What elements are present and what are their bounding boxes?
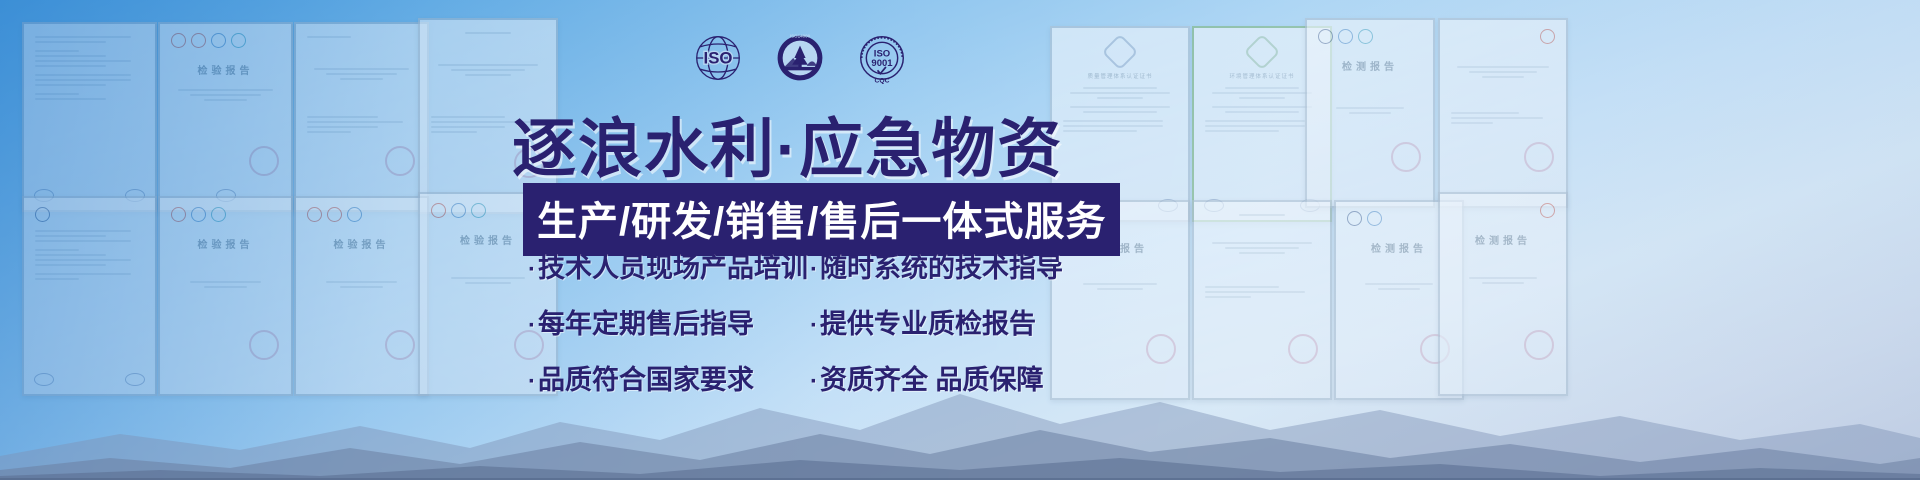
certificate-thumb	[22, 22, 157, 212]
certificate-thumb: 检测报告	[1305, 18, 1435, 208]
certificate-title: 检测报告	[1318, 58, 1422, 73]
iso-9001-cqc-badge: ISO 9001 CQC	[854, 30, 910, 86]
certificate-title: 检验报告	[307, 236, 416, 251]
feature-bullet-text: 资质齐全 品质保障	[820, 365, 1044, 395]
feature-bullet-text: 随时系统的技术指导	[820, 253, 1063, 283]
feature-bullet: ·每年定期售后指导	[528, 302, 800, 341]
certificate-thumb: 检验报告	[158, 22, 293, 212]
bullet-marker-icon: ·	[528, 312, 536, 339]
feature-bullet: ·资质齐全 品质保障	[810, 358, 1063, 397]
feature-bullet-text: 每年定期售后指导	[538, 309, 754, 339]
certificate-title: 环境管理体系认证证书	[1205, 72, 1319, 80]
feature-bullet-text: 技术人员现场产品培训	[538, 253, 808, 283]
certificate-thumb	[1438, 18, 1568, 208]
certificate-title: 质量管理体系认证证书	[1063, 72, 1177, 80]
certificate-title: 检验报告	[171, 236, 280, 251]
svg-text:9001: 9001	[871, 58, 893, 69]
feature-bullet: ·提供专业质检报告	[810, 302, 1063, 341]
certificate-title: 检测报告	[1451, 232, 1555, 247]
svg-text:ISO14000: ISO14000	[790, 33, 811, 38]
certificate-title: 检测报告	[1347, 240, 1451, 255]
feature-bullet: ·品质符合国家要求	[528, 358, 800, 397]
svg-text:ISO: ISO	[704, 49, 733, 68]
bullet-marker-icon: ·	[810, 312, 818, 339]
bullet-marker-icon: ·	[528, 256, 536, 283]
bullet-marker-icon: ·	[810, 368, 818, 395]
svg-text:CQC: CQC	[875, 78, 890, 85]
iso-14000-environment-badge: ISO14000	[772, 30, 828, 86]
certificate-thumb	[294, 22, 429, 212]
banner-headline: 逐浪水利·应急物资	[512, 98, 1063, 190]
promo-banner: 检验报告 质量管理体系认证证书 环境管理体系认证证	[0, 0, 1920, 480]
certificate-title: 检验报告	[171, 62, 280, 77]
certification-badge-row: ISO ISO14000 ISO 9001	[690, 30, 910, 86]
bullet-marker-icon: ·	[810, 256, 818, 283]
bullet-marker-icon: ·	[528, 368, 536, 395]
feature-bullet: ·技术人员现场产品培训	[528, 246, 800, 285]
feature-bullet: ·随时系统的技术指导	[810, 246, 1063, 285]
feature-bullet-text: 品质符合国家要求	[538, 365, 754, 395]
iso-globe-badge: ISO	[690, 30, 746, 86]
feature-bullet-text: 提供专业质检报告	[820, 309, 1036, 339]
feature-bullet-list: ·技术人员现场产品培训 ·随时系统的技术指导 ·每年定期售后指导 ·提供专业质检…	[528, 246, 1063, 397]
